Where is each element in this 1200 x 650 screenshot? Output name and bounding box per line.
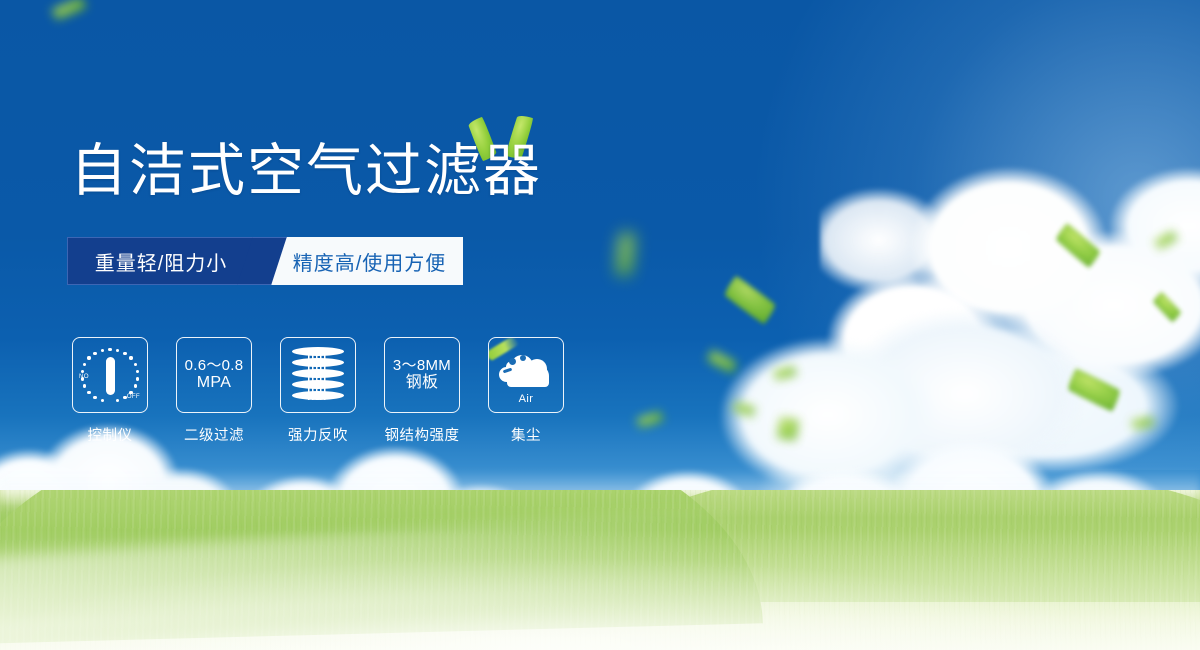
- gauge-icon: NO OFF: [80, 347, 140, 403]
- feature-label: 集尘: [511, 424, 541, 445]
- subtitle-right-panel: 精度高/使用方便: [262, 237, 463, 285]
- pressure-value: 0.6～0.8: [185, 358, 244, 375]
- feature-label: 控制仪: [88, 424, 133, 445]
- cloud-air-icon: Air: [497, 349, 555, 401]
- cloud-air-label: Air: [497, 393, 555, 405]
- steel-thickness: 3～8MM: [393, 358, 451, 375]
- feature-item-pulse-jet[interactable]: 强力反吹: [280, 337, 356, 445]
- page-title: 自洁式空气过滤器: [70, 143, 542, 200]
- subtitle-left-panel: 重量轻/阻力小: [67, 237, 263, 285]
- grass-field: [0, 490, 1200, 650]
- subtitle-left-label: 重量轻/阻力小: [95, 247, 228, 276]
- pressure-text-icon: 0.6～0.8 MPA: [185, 358, 244, 393]
- steel-plate-text-icon: 3～8MM 钢板: [393, 358, 451, 393]
- feature-icon-box: 0.6～0.8 MPA: [176, 337, 252, 413]
- feature-label: 钢结构强度: [385, 424, 460, 445]
- feature-label: 二级过滤: [184, 424, 244, 445]
- feature-icon-box: 3～8MM 钢板: [384, 337, 460, 413]
- gauge-label-no: NO: [79, 373, 89, 380]
- field-sheen: [0, 530, 1200, 650]
- subtitle-bar: 重量轻/阻力小 精度高/使用方便: [67, 237, 463, 285]
- feature-item-controller[interactable]: NO OFF 控制仪: [72, 337, 148, 445]
- gauge-needle: [106, 357, 115, 395]
- steel-material: 钢板: [393, 374, 451, 392]
- feature-item-dust-collection[interactable]: Air 集尘: [488, 337, 564, 445]
- feature-label: 强力反吹: [288, 424, 348, 445]
- feature-item-steel-strength[interactable]: 3～8MM 钢板 钢结构强度: [384, 337, 460, 445]
- filter-stack-icon: [292, 347, 344, 403]
- feature-icon-box: NO OFF: [72, 337, 148, 413]
- feature-item-two-stage-filter[interactable]: 0.6～0.8 MPA 二级过滤: [176, 337, 252, 445]
- pressure-unit: MPA: [185, 374, 244, 392]
- gauge-label-off: OFF: [127, 393, 140, 400]
- product-banner: 自洁式空气过滤器 重量轻/阻力小 精度高/使用方便: [0, 0, 1200, 650]
- subtitle-right-label: 精度高/使用方便: [293, 247, 447, 276]
- feature-list: NO OFF 控制仪 0.6～0.8 MPA 二级过滤: [72, 337, 564, 445]
- feature-icon-box: [280, 337, 356, 413]
- feature-icon-box: Air: [488, 337, 564, 413]
